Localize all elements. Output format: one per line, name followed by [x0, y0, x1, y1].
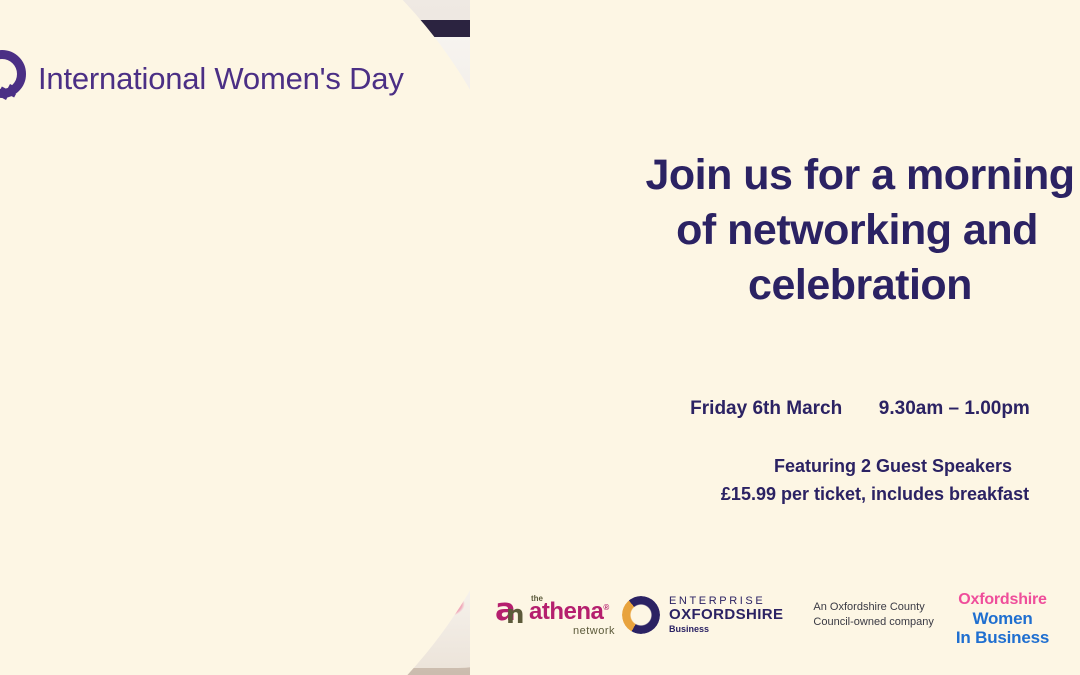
eo-line-3: Business: [669, 625, 783, 635]
athena-monogram-n: n: [506, 602, 525, 628]
event-price: £15.99 per ticket, includes breakfast: [570, 484, 1080, 505]
event-banner: GROWTH HUBOxfordshire 01865 89718: [0, 0, 1080, 675]
enterprise-oxfordshire-wordmark: ENTERPRISE OXFORDSHIRE Business: [669, 595, 783, 635]
athena-word-text: athena: [529, 598, 603, 625]
athena-wordmark: athena®: [529, 600, 609, 624]
international-womens-day-title: International Women's Day: [0, 48, 404, 110]
event-datetime: Friday 6th March 9.30am – 1.00pm: [555, 398, 1080, 420]
headline-line-3: celebration: [555, 258, 1080, 313]
venus-symbol-icon: [0, 48, 30, 110]
eo-line-2: OXFORDSHIRE: [669, 607, 783, 624]
content-column: Join us for a morning of networking and …: [470, 0, 1080, 675]
enterprise-oxfordshire-logo: ENTERPRISE OXFORDSHIRE Business An Oxfor…: [622, 591, 922, 639]
headline: Join us for a morning of networking and …: [470, 148, 1080, 313]
athena-network-logo: a n the athena® network: [495, 589, 615, 641]
event-details: Friday 6th March 9.30am – 1.00pm Featuri…: [470, 398, 1080, 505]
sponsor-logos: a n the athena® network ENTERPRISE OXFOR…: [470, 585, 1080, 649]
owib-line-1: Oxfordshire: [910, 591, 1080, 609]
headline-line-1: Join us for a morning: [555, 148, 1080, 203]
event-date: Friday 6th March: [690, 398, 842, 419]
headline-line-2: of networking and: [552, 203, 1080, 258]
owib-line-2: Women: [910, 609, 1080, 628]
athena-registered-mark: ®: [603, 603, 608, 612]
event-speakers: Featuring 2 Guest Speakers: [588, 456, 1080, 477]
owib-line-3: In Business: [910, 628, 1080, 647]
event-time: 9.30am – 1.00pm: [879, 398, 1030, 419]
iwd-title-text: International Women's Day: [38, 61, 404, 97]
circular-swirl-icon: [622, 596, 660, 634]
athena-network-label: network: [573, 625, 615, 637]
athena-monogram-icon: a n: [495, 595, 525, 633]
oxfordshire-women-in-business-logo: Oxfordshire Women In Business: [910, 591, 1080, 641]
